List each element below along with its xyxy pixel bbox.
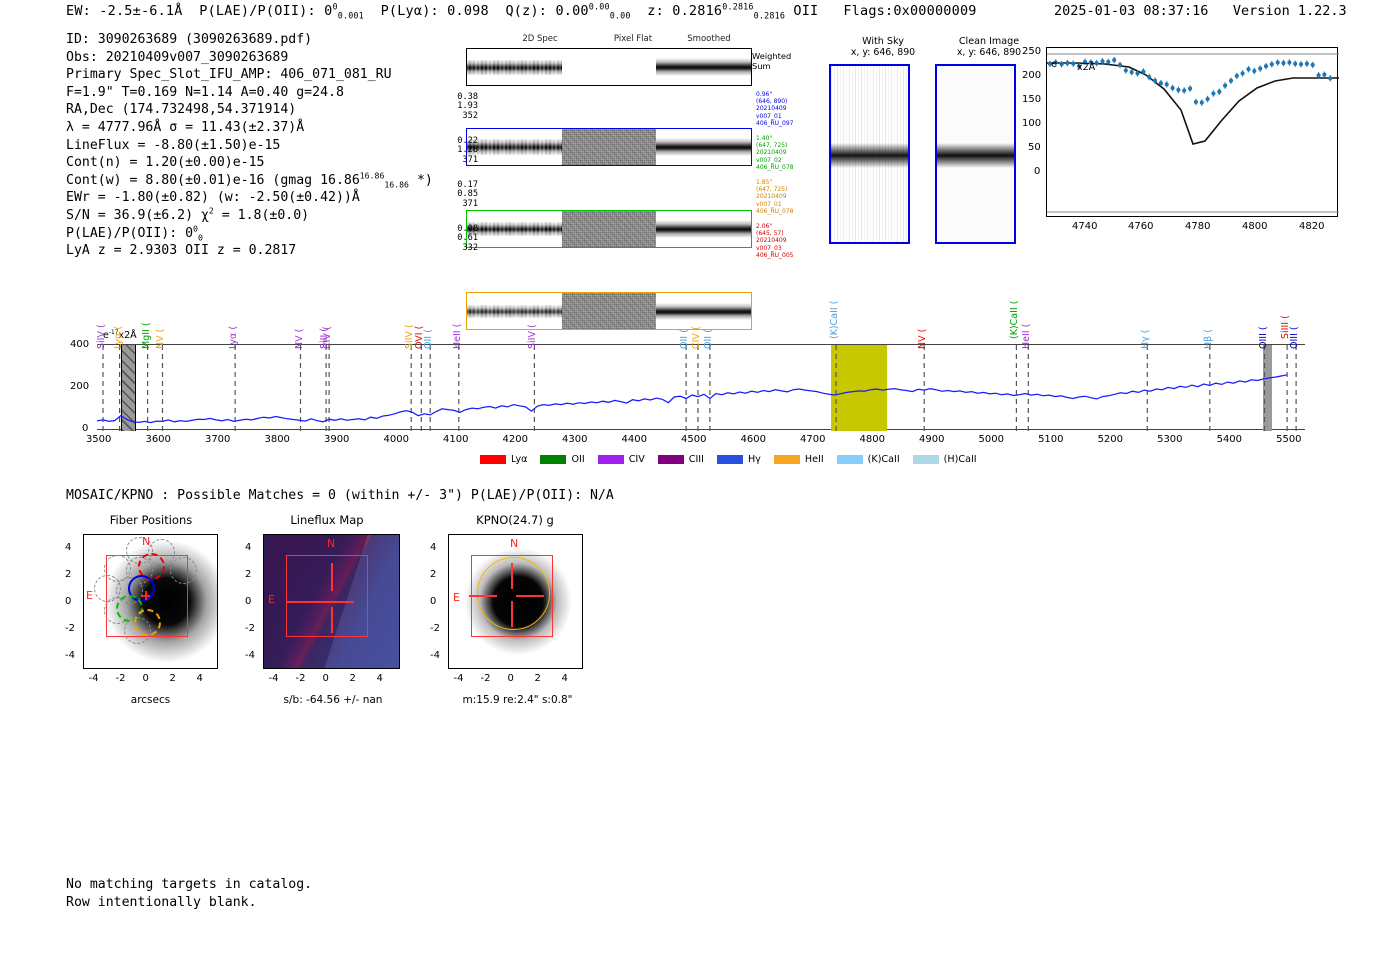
lineflux-map-xtick: -2 <box>296 673 306 684</box>
kpno-ytick: -4 <box>430 650 440 661</box>
lp-xtick: 4800 <box>1242 221 1267 232</box>
legend-label: Hγ <box>748 454 761 465</box>
weighted-sum-pixelflat <box>562 49 657 85</box>
fiber-2dspec <box>467 211 562 247</box>
legend-swatch <box>540 455 566 464</box>
header-plya: P(Lyα): 0.098 <box>381 3 489 19</box>
fiber-pixelflat <box>562 293 657 329</box>
kpno-xtick: 4 <box>562 673 568 684</box>
legend-item: HeII <box>774 454 824 465</box>
spec-xtick: 4100 <box>443 434 468 445</box>
east-label: E <box>453 591 460 604</box>
line-profile-plot: e x2Å <box>1046 47 1338 217</box>
kpno-plot: N E <box>448 534 583 669</box>
lp-xtick: 4780 <box>1185 221 1210 232</box>
fiber-left-labels: 0.221.28371 <box>436 137 478 165</box>
version-label: Version 1.22.3 <box>1233 3 1347 19</box>
header-flags: Flags:0x00000009 <box>843 3 976 19</box>
fiber-positions-xtick: -2 <box>116 673 126 684</box>
legend-swatch <box>913 455 939 464</box>
spec-ytick: 0 <box>82 423 88 434</box>
footer-line-1: No matching targets in catalog. <box>66 876 312 894</box>
lineflux-map-xtick: 4 <box>377 673 383 684</box>
spec-xtick: 4800 <box>860 434 885 445</box>
spec2d-montage: 2D Spec Pixel Flat Smoothed Weighted Sum <box>0 0 286 190</box>
line-profile-ylabel: e <box>1051 59 1057 70</box>
spec-xtick: 3900 <box>324 434 349 445</box>
emission-line-label: OIII ( <box>1258 326 1269 349</box>
info-ewr: EWr = -1.80(±0.82) (w: -2.50(±0.42))Å <box>66 189 433 207</box>
fiber-pixelflat <box>562 129 657 165</box>
legend-item: (H)CaII <box>913 454 977 465</box>
mosaic-summary: MOSAIC/KPNO : Possible Matches = 0 (with… <box>66 488 614 503</box>
lineflux-map-title: Lineflux Map <box>242 513 412 527</box>
legend-swatch <box>774 455 800 464</box>
emission-line-label: CIV ( <box>322 326 333 349</box>
header-qz: Q(z): 0.000.000.00 <box>505 3 630 19</box>
lineflux-map-redbox <box>286 555 368 637</box>
spec-ytick: 400 <box>70 339 89 350</box>
fiber-2dspec <box>467 293 562 329</box>
north-label: N <box>510 537 518 550</box>
fiber-positions-xtick: -4 <box>89 673 99 684</box>
lp-ytick: 150 <box>1022 94 1041 105</box>
lineflux-map-xtick: 0 <box>323 673 329 684</box>
emission-line-label: NV ( <box>917 329 928 349</box>
kpno-aperture-circle <box>477 557 550 630</box>
east-label: E <box>268 593 275 606</box>
spec-xtick: 5000 <box>979 434 1004 445</box>
weighted-sum-smoothed <box>656 49 751 85</box>
col-header-2dspec: 2D Spec <box>495 34 585 44</box>
emission-line-label: OIII ( <box>1289 326 1300 349</box>
east-label: E <box>86 589 93 602</box>
fiber-strip <box>466 210 752 248</box>
weighted-sum-strip <box>466 48 752 86</box>
fiber-2dspec <box>467 129 562 165</box>
fiber-circle-orange <box>134 609 161 636</box>
weighted-sum-label: Weighted Sum <box>752 52 791 71</box>
lp-xtick: 4820 <box>1299 221 1324 232</box>
kpno-subtitle: m:15.9 re:2.4" s:0.8" <box>440 694 595 706</box>
legend-label: (H)CaII <box>944 454 977 465</box>
spec-xtick: 3600 <box>145 434 170 445</box>
fiber-positions-ytick: 2 <box>65 569 71 580</box>
footer-line-2: Row intentionally blank. <box>66 894 312 912</box>
spec-ytick: 200 <box>70 381 89 392</box>
kpno-ytick: 0 <box>430 596 436 607</box>
spec-xtick: 3800 <box>264 434 289 445</box>
legend-swatch <box>837 455 863 464</box>
fiber-positions-subtitle: arcsecs <box>83 694 218 706</box>
lp-ytick: 200 <box>1022 70 1041 81</box>
emission-line-label: OII ( <box>679 329 690 349</box>
legend-item: Hγ <box>717 454 761 465</box>
fiber-left-labels: 0.080.61332 <box>436 225 478 253</box>
lp-ytick: 0 <box>1034 166 1040 177</box>
kpno-xtick: -2 <box>481 673 491 684</box>
fiber-smoothed <box>656 211 751 247</box>
emission-line-label: Lyα ( <box>228 326 239 349</box>
lineflux-map-ytick: 0 <box>245 596 251 607</box>
kpno-xtick: -4 <box>454 673 464 684</box>
spectrum-svg <box>97 345 1305 431</box>
kpno-ytick: 4 <box>430 542 436 553</box>
emission-line-label: SiIV ( <box>96 324 107 349</box>
spec-xtick: 5200 <box>1098 434 1123 445</box>
emission-line-label: NV ( <box>294 329 305 349</box>
legend-label: HeII <box>805 454 824 465</box>
fiber-positions-plot: N E <box>83 534 218 669</box>
lp-xtick: 4760 <box>1128 221 1153 232</box>
legend-swatch <box>480 455 506 464</box>
fiber-positions-title: Fiber Positions <box>66 513 236 527</box>
fiber-positions-ytick: -4 <box>65 650 75 661</box>
legend-swatch <box>658 455 684 464</box>
lineflux-map-xtick: -4 <box>269 673 279 684</box>
emission-line-label: Lyα ( <box>113 326 124 349</box>
line-profile-svg <box>1047 48 1339 218</box>
with-sky-coords: x, y: 646, 890 <box>828 47 938 58</box>
line-profile-annotation: x2Å <box>1077 62 1095 73</box>
fiber-pixelflat <box>562 211 657 247</box>
spec-xtick: 3700 <box>205 434 230 445</box>
emission-line-label: (K)CaII ( <box>1009 301 1020 339</box>
fiber-right-labels: 1.85"(647, 725) 20210409v007_01 406_RU_0… <box>756 179 816 215</box>
info-redshifts: LyA z = 2.9303 OII z = 0.2817 <box>66 242 433 260</box>
with-sky-image <box>829 64 910 244</box>
emission-line-label: Hγ ( <box>1140 330 1151 350</box>
fiber-right-labels: 1.40"(647, 725) 20210409v007_02 406_RU_0… <box>756 135 816 171</box>
fiber-positions-ytick: 4 <box>65 542 71 553</box>
fiber-smoothed <box>656 293 751 329</box>
fiber-right-labels: 0.96"(646, 890) 20210409v007_01 406_RU_0… <box>756 91 816 127</box>
lp-ytick: 250 <box>1022 46 1041 57</box>
emission-line-label: OII ( <box>703 329 714 349</box>
emission-line-label: CIV ( <box>691 326 702 349</box>
kpno-ytick: -2 <box>430 623 440 634</box>
fiber-right-labels: 2.06"(645, 57) 20210409v007_03 406_RU_00… <box>756 223 816 259</box>
legend-label: CIII <box>689 454 704 465</box>
info-plae-poii: P(LAE)/P(OII): 000 <box>66 225 433 243</box>
legend-item: Lyα <box>480 454 527 465</box>
spec-xtick: 4300 <box>562 434 587 445</box>
legend-item: CIII <box>658 454 704 465</box>
fiber-smoothed <box>656 129 751 165</box>
kpno-xtick: 0 <box>508 673 514 684</box>
spec-xtick: 4400 <box>622 434 647 445</box>
lineflux-map-ytick: -4 <box>245 650 255 661</box>
timestamp: 2025-01-03 08:37:16 <box>1054 3 1208 19</box>
lineflux-map-ytick: -2 <box>245 623 255 634</box>
emission-line-label: OVI ( <box>414 326 425 349</box>
fiber-left-labels: 0.381.93352 <box>436 93 478 121</box>
fiber-strip <box>466 292 752 330</box>
emission-line-label: MgII ( <box>141 322 152 349</box>
emission-line-label: HeII ( <box>452 324 463 349</box>
legend-swatch <box>717 455 743 464</box>
spectrum-legend: LyαOIICIVCIIIHγHeII(K)CaII(H)CaII <box>480 454 990 465</box>
lp-ytick: 50 <box>1028 142 1041 153</box>
spec-xtick: 4500 <box>681 434 706 445</box>
fiber-positions-xtick: 0 <box>143 673 149 684</box>
spectrum-frame <box>97 344 1305 430</box>
spec-xtick: 4000 <box>383 434 408 445</box>
kpno-xtick: 2 <box>535 673 541 684</box>
lp-ytick: 100 <box>1022 118 1041 129</box>
lineflux-map-ytick: 2 <box>245 569 251 580</box>
emission-line-label: Hβ ( <box>1203 329 1214 349</box>
fiber-strip <box>466 128 752 166</box>
lineflux-map-ytick: 4 <box>245 542 251 553</box>
emission-line-label: (K)CaII ( <box>829 301 840 339</box>
north-label: N <box>142 535 150 548</box>
weighted-sum-2dspec <box>467 49 562 85</box>
full-spectrum-panel: e-17x2Å <box>97 344 1305 430</box>
legend-label: OII <box>571 454 584 465</box>
legend-swatch <box>598 455 624 464</box>
clean-image <box>935 64 1016 244</box>
north-label: N <box>327 537 335 550</box>
emission-line-label: HeII ( <box>1021 324 1032 349</box>
spec-xtick: 4900 <box>919 434 944 445</box>
spec-xtick: 3500 <box>86 434 111 445</box>
legend-label: Lyα <box>511 454 527 465</box>
fiber-circle-grey <box>170 557 197 584</box>
spec-xtick: 5500 <box>1276 434 1301 445</box>
legend-item: (K)CaII <box>837 454 900 465</box>
spec-xtick: 5400 <box>1217 434 1242 445</box>
legend-item: CIV <box>598 454 645 465</box>
lineflux-map-subtitle: s/b: -64.56 +/- nan <box>258 694 408 706</box>
lp-xtick: 4740 <box>1072 221 1097 232</box>
footer-note: No matching targets in catalog. Row inte… <box>66 876 312 911</box>
lineflux-map-plot: N E <box>263 534 400 669</box>
spec-xtick: 5100 <box>1038 434 1063 445</box>
with-sky-title: With Sky x, y: 646, 890 <box>828 36 938 58</box>
kpno-title: KPNO(24.7) g <box>425 513 605 527</box>
col-header-smoothed: Smoothed <box>664 34 754 44</box>
emission-line-label: NV ( <box>155 329 166 349</box>
fiber-positions-xtick: 4 <box>197 673 203 684</box>
legend-label: (K)CaII <box>868 454 900 465</box>
fiber-left-labels: 0.170.85371 <box>436 181 478 209</box>
header-timestamp-version: 2025-01-03 08:37:16 Version 1.22.3 <box>1054 3 1347 19</box>
kpno-ytick: 2 <box>430 569 436 580</box>
spec-xtick: 4600 <box>741 434 766 445</box>
emission-line-label: SiIV ( <box>527 324 538 349</box>
spec-xtick: 4700 <box>800 434 825 445</box>
info-sn-chi2: S/N = 36.9(±6.2) χ2 = 1.8(±0.0) <box>66 207 433 225</box>
header-redshift: z: 0.28160.28160.2816 OII <box>647 3 818 19</box>
fiber-positions-ytick: -2 <box>65 623 75 634</box>
fiber-positions-xtick: 2 <box>170 673 176 684</box>
lineflux-map-xtick: 2 <box>350 673 356 684</box>
spec-xtick: 4200 <box>503 434 528 445</box>
legend-label: CIV <box>629 454 645 465</box>
legend-item: OII <box>540 454 584 465</box>
fiber-positions-ytick: 0 <box>65 596 71 607</box>
spec-xtick: 5300 <box>1157 434 1182 445</box>
